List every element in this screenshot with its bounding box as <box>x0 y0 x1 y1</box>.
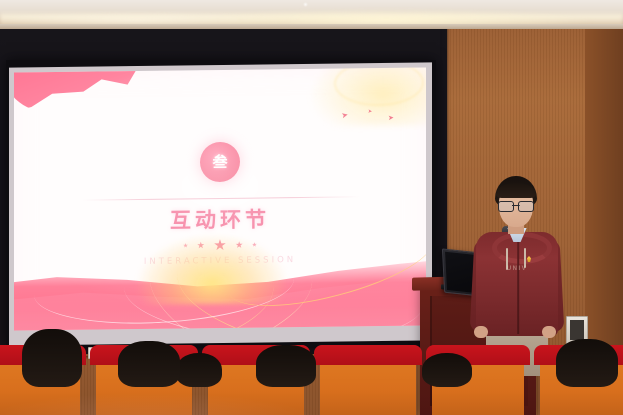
audience-head <box>22 329 82 387</box>
lecture-hall-photo: ➤ ➤ ➤ 叁 互动环节 ★ ★ ★ ★ ★ INTERACTIVE SESSI… <box>0 0 623 415</box>
presenter-fringe <box>496 183 536 198</box>
projected-slide: ➤ ➤ ➤ 叁 互动环节 ★ ★ ★ ★ ★ INTERACTIVE SESSI… <box>14 67 426 330</box>
audience-head <box>176 353 222 387</box>
sun-glow-decoration <box>137 233 287 305</box>
bird-icon: ➤ <box>341 111 349 120</box>
hood-drawstring-right <box>524 248 526 268</box>
hoodie-zipper <box>517 242 519 334</box>
audience-head <box>556 339 618 387</box>
section-number-badge: 叁 <box>200 142 240 182</box>
audience-seating <box>0 353 623 415</box>
glasses-icon <box>498 201 534 210</box>
hoodie-chest-text: UNIV <box>480 266 554 272</box>
presenter-left-hand <box>474 326 488 338</box>
seat <box>320 355 416 415</box>
slide-title: 互动环节 <box>14 201 426 236</box>
ink-wash-decoration <box>14 67 138 114</box>
bird-icon: ➤ <box>367 109 372 115</box>
bird-icon: ➤ <box>388 115 394 122</box>
wall-right-corner <box>585 29 623 359</box>
presenter-right-hand <box>542 326 556 338</box>
ceiling-light-spot <box>303 2 308 7</box>
slide-divider-rule <box>82 196 360 200</box>
audience-head <box>118 341 180 387</box>
section-number-label: 叁 <box>212 154 227 169</box>
audience-head <box>256 345 316 387</box>
audience-head <box>422 353 472 387</box>
